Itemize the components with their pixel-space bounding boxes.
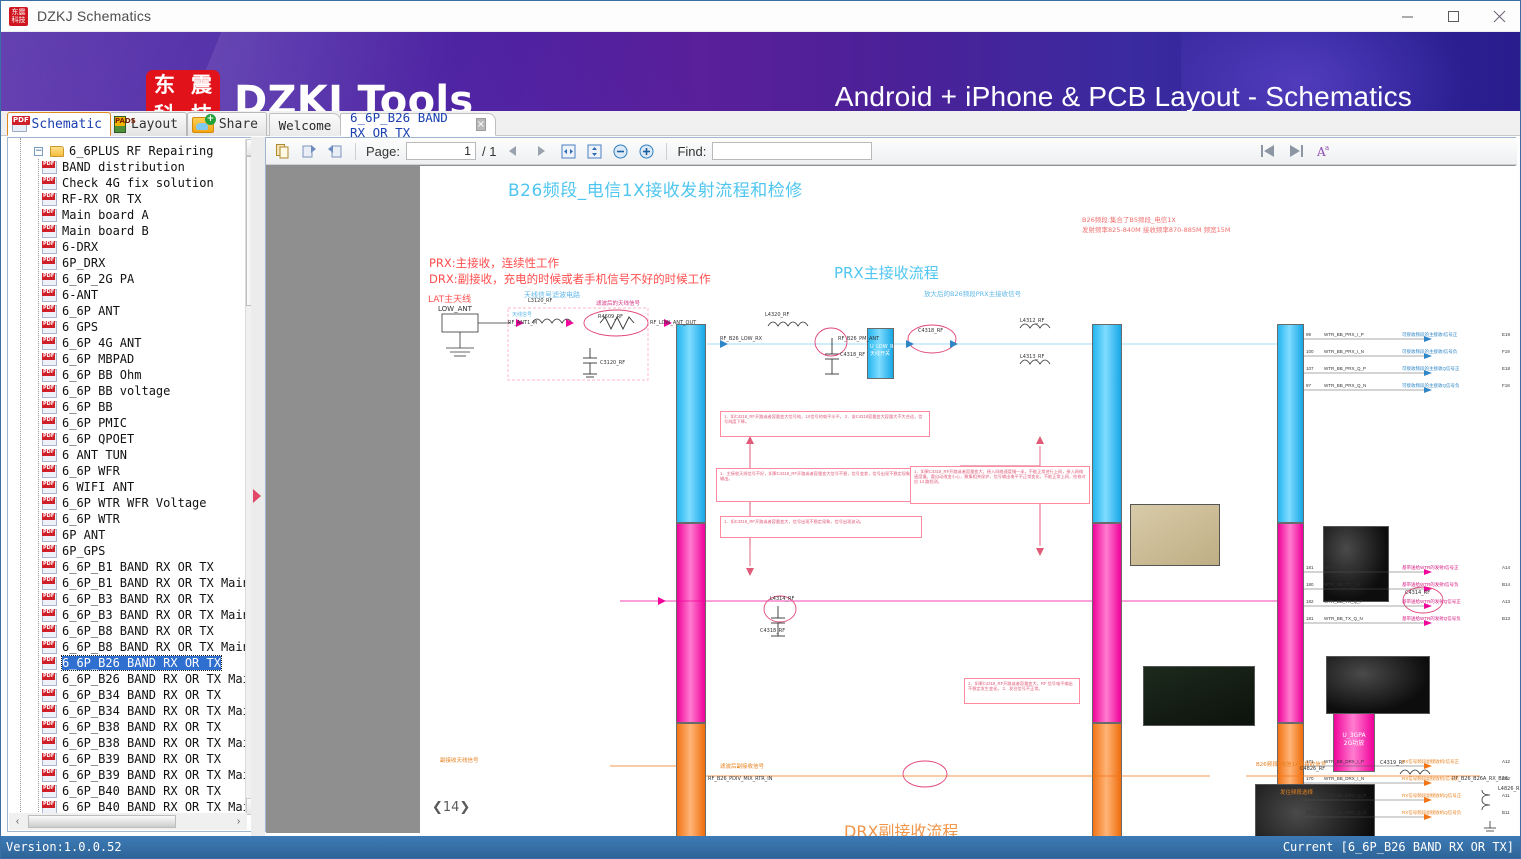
tree-guide-line-child xyxy=(38,159,39,814)
signal-pin: 172 xyxy=(1306,793,1314,798)
signal-net: WTR_BB_PRX_Q_P xyxy=(1324,366,1366,371)
tree-node-21[interactable]: 6_6P WTR WFR Voltage xyxy=(8,495,246,511)
tree-node-26[interactable]: 6_6P_B1 BAND RX OR TX Main xyxy=(8,575,246,591)
signal-pin: 171 xyxy=(1306,759,1314,764)
toolbar-separator xyxy=(355,143,356,160)
tree-node-label: 6_6P_B38 BAND RX OR TX Main xyxy=(62,736,246,750)
pdf-file-icon xyxy=(42,721,57,734)
ref-l4827: L4826_RF xyxy=(1498,786,1521,793)
note-box-5: 1．如果C4318_RF开路或者容量变大，RF 信号电平输出不稳定发生变化。 2… xyxy=(964,678,1080,704)
pdf-file-icon xyxy=(42,449,57,462)
signal-net: WTR_BB_DRX_I_P xyxy=(1324,759,1364,764)
pdf-file-icon xyxy=(42,417,57,430)
tree-node-label: 6_6P_B40 BAND RX OR TX Main xyxy=(62,800,246,814)
signal-pin: 182 xyxy=(1306,599,1314,604)
signal-net: WTR_BB_DRX_I_N xyxy=(1324,776,1364,781)
title-bar: 东震 科技 DZKJ Schematics xyxy=(1,1,1521,32)
pdf-file-icon xyxy=(42,273,57,286)
tab-schematic[interactable]: Schematic xyxy=(7,112,111,136)
pdf-file-icon xyxy=(42,545,57,558)
banner-subtitle: Android + iPhone & PCB Layout - Schemati… xyxy=(835,81,1412,111)
ref-c3120: C3120_RF xyxy=(600,360,625,367)
pdf-file-icon xyxy=(42,689,57,702)
logo-char-4: 技 xyxy=(191,105,212,111)
signal-net: WTR_BB_PRX_I_N xyxy=(1324,349,1364,354)
pdf-file-icon xyxy=(42,385,57,398)
tree-node-18[interactable]: 6 ANT TUN xyxy=(8,447,246,463)
pdf-file-icon xyxy=(42,737,57,750)
tree-node-label: 6_6P_B1 BAND RX OR TX xyxy=(62,560,214,574)
tree-node-label: 6_6P_B39 BAND RX OR TX Main xyxy=(62,768,246,782)
signal-desc: 基带送给WTR的发射I信号负 xyxy=(1402,582,1459,588)
tree-node-label: Main board B xyxy=(62,224,149,238)
page-number-input[interactable]: 1 xyxy=(406,142,476,160)
band-note-line2: 发射频率825-840M 接收频率870-885M 频宽15M xyxy=(1082,226,1231,234)
application-window: 东震 科技 DZKJ Schematics 东 震 科 技 DZKJ Tools… xyxy=(0,0,1521,859)
tree-node-28[interactable]: 6_6P_B3 BAND RX OR TX Main xyxy=(8,607,246,623)
tree-node-label: 6_6P WFR xyxy=(62,464,120,478)
tree-node-36[interactable]: 6_6P_B38 BAND RX OR TX Main xyxy=(8,735,246,751)
signal-desc: RX信号频段副接收机Q信号正 xyxy=(1402,793,1461,799)
ref-c4318-a: C4318_RF xyxy=(840,352,865,359)
signal-desc: 基带送给WTR的发射I信号正 xyxy=(1402,565,1459,571)
pdf-file-icon xyxy=(42,609,57,622)
tree-node-13[interactable]: 6_6P BB Ohm xyxy=(8,367,246,383)
net-b26a-rx: RF_B26_B26A_RX_B26 xyxy=(1452,776,1508,783)
logo-char-1: 东 xyxy=(154,75,175,96)
signal-net: WTR_BB_TX_Q_P xyxy=(1324,599,1363,604)
fit-width-icon[interactable] xyxy=(558,141,578,161)
signal-net: WTR_BB_DRX_Q_P xyxy=(1324,793,1366,798)
pdf-file-icon xyxy=(42,657,57,670)
signal-pin: 99 xyxy=(1306,332,1311,337)
tree-node-label: RF-RX OR TX xyxy=(62,192,141,206)
pdf-file-icon xyxy=(42,161,57,174)
tree-node-label: 6-DRX xyxy=(62,240,98,254)
tree-node-38[interactable]: 6_6P_B39 BAND RX OR TX Main xyxy=(8,767,246,783)
signal-pin2: F19 xyxy=(1502,349,1510,354)
signal-pin: 97 xyxy=(1306,383,1311,388)
ref-c4826: C4826_RF xyxy=(1300,766,1325,773)
pdf-file-icon xyxy=(42,593,57,606)
tree-node-root[interactable]: −6_6PLUS RF Repairing xyxy=(8,143,246,159)
antenna-ref: LOW_ANT xyxy=(438,306,472,313)
maximize-button[interactable] xyxy=(1430,1,1476,32)
tree-node-label: 6P_DRX xyxy=(62,256,105,270)
page-label: Page: xyxy=(366,144,400,159)
pdf-icon xyxy=(12,116,27,132)
previous-page-icon[interactable] xyxy=(299,141,319,161)
folder-share-icon xyxy=(192,117,214,133)
tree-guide-line xyxy=(20,138,21,814)
tree-node-label: 6-ANT xyxy=(62,288,98,302)
tree-node-label: 6_6P_B26 BAND RX OR TX xyxy=(62,656,221,670)
tree-node-label: BAND distribution xyxy=(62,160,185,174)
signal-net: WTR_BB_PRX_Q_N xyxy=(1324,383,1366,388)
tree-node-35[interactable]: 6_6P_B38 BAND RX OR TX xyxy=(8,719,246,735)
pdf-file-icon xyxy=(42,529,57,542)
tree-node-4[interactable]: Main board B xyxy=(8,223,246,239)
tree-node-40[interactable]: 6_6P_B40 BAND RX OR TX Main xyxy=(8,799,246,814)
tree-node-label: 6_6P MBPAD xyxy=(62,352,134,366)
doc-tab-b26-label: 6_6P_B26 BAND RX OR TX xyxy=(350,110,468,140)
note-box-4: 1．如果C4318_RF开路或者容量变大，接入网络速度慢一半，不能正常进行上网，… xyxy=(910,466,1090,504)
net-drx: RF_B26_PDIV_MIX_RTR_IN xyxy=(708,776,772,783)
pdf-file-icon xyxy=(42,369,57,382)
tab-schematic-label: Schematic xyxy=(32,117,102,132)
schematic-tree[interactable]: −6_6PLUS RF RepairingBAND distributionCh… xyxy=(8,138,246,814)
current-document-label: Current [6_6P_B26 BAND RX OR TX] xyxy=(1283,840,1514,854)
pdf-file-icon xyxy=(42,257,57,270)
tree-node-7[interactable]: 6_6P_2G PA xyxy=(8,271,246,287)
tree-node-25[interactable]: 6_6P_B1 BAND RX OR TX xyxy=(8,559,246,575)
status-bar: Version:1.0.0.52 Current [6_6P_B26 BAND … xyxy=(1,836,1521,858)
doc-tab-b26[interactable]: 6_6P_B26 BAND RX OR TX × xyxy=(340,113,496,136)
tree-node-17[interactable]: 6_6P QPOET xyxy=(8,431,246,447)
signal-pin: 180 xyxy=(1306,582,1314,587)
tree-node-label: 6_6P_B8 BAND RX OR TX xyxy=(62,624,214,638)
tree-node-label: 6_6P_B38 BAND RX OR TX xyxy=(62,720,221,734)
pdf-file-icon xyxy=(42,433,57,446)
pdf-file-icon xyxy=(42,641,57,654)
pdf-file-icon xyxy=(42,561,57,574)
pdf-file-icon xyxy=(42,577,57,590)
drx-ant-label: 副接收天线信号 xyxy=(440,758,479,765)
antenna-label: LAT主天线 xyxy=(428,292,471,305)
signal-pin2: E18 xyxy=(1502,366,1510,371)
tree-node-10[interactable]: 6 GPS xyxy=(8,319,246,335)
window-title: DZKJ Schematics xyxy=(37,8,151,24)
signal-pin2: B12 xyxy=(1502,776,1510,781)
note-box-3: 1．如C4318_RF开路或者容量变大，信号出现不稳定现象，信号出现波动。 xyxy=(720,516,922,538)
tree-node-label: 6_6PLUS RF Repairing xyxy=(69,144,214,158)
pdf-file-icon xyxy=(42,289,57,302)
tree-node-label: 6_6P_B8 BAND RX OR TX Main xyxy=(62,640,246,654)
signal-net: WTR_BB_DRX_Q_N xyxy=(1324,810,1367,815)
tree-scroll-left-button[interactable]: ‹ xyxy=(9,814,26,829)
signal-net: WTR_BB_TX_I_P xyxy=(1324,565,1360,570)
tree-node-label: 6_6P_B34 BAND RX OR TX Main xyxy=(62,704,246,718)
tab-strip: Schematic Layout Share Welcome 6_6P_B26 … xyxy=(1,111,1521,136)
tree-node-27[interactable]: 6_6P_B3 BAND RX OR TX xyxy=(8,591,246,607)
signal-pin2: A14 xyxy=(1502,565,1510,570)
band-note-line1: B26频段:集合了B5频段_电信1X xyxy=(1082,216,1176,224)
viewer-gutter xyxy=(266,166,420,833)
tab-layout-label: Layout xyxy=(131,117,178,132)
tree-node-31[interactable]: 6_6P_B26 BAND RX OR TX xyxy=(8,655,246,671)
ref-l3120: L3120_RF xyxy=(528,298,552,305)
window-controls xyxy=(1384,1,1521,32)
tree-node-label: 6_6P QPOET xyxy=(62,432,134,446)
tree-node-label: 6_6P_2G PA xyxy=(62,272,134,286)
folder-icon xyxy=(50,146,64,157)
tree-node-20[interactable]: 6 WIFI ANT xyxy=(8,479,246,495)
pdf-file-icon xyxy=(42,513,57,526)
find-input[interactable] xyxy=(712,142,872,160)
tree-node-label: 6_6P ANT xyxy=(62,304,120,318)
pdf-file-icon xyxy=(42,769,57,782)
doc-tab-welcome[interactable]: Welcome xyxy=(269,113,341,136)
signal-pin2: F18 xyxy=(1502,383,1510,388)
signal-desc: 可接收频段的主接收I信号负 xyxy=(1402,349,1457,355)
doc-tab-close-icon[interactable]: × xyxy=(476,118,486,131)
pdf-viewer: Page: 1 / 1 Find: xyxy=(265,137,1516,832)
logo-char-2: 震 xyxy=(191,75,212,96)
find-previous-icon[interactable] xyxy=(1258,141,1278,161)
tree-node-39[interactable]: 6_6P_B40 BAND RX OR TX xyxy=(8,783,246,799)
pdf-file-icon xyxy=(42,401,57,414)
pdf-file-icon xyxy=(42,241,57,254)
toolbar-separator-2 xyxy=(666,143,667,160)
next-page-icon[interactable] xyxy=(325,141,345,161)
pdf-file-icon xyxy=(42,321,57,334)
tree-node-33[interactable]: 6_6P_B34 BAND RX OR TX xyxy=(8,687,246,703)
tree-node-14[interactable]: 6_6P BB voltage xyxy=(8,383,246,399)
signal-desc: RX信号频段副接收机I信号正 xyxy=(1402,759,1459,765)
close-button[interactable] xyxy=(1476,1,1521,32)
filtered-signal-label: 滤波后的天线信号 xyxy=(596,301,640,308)
tree-node-label: 6_6P_B40 BAND RX OR TX xyxy=(62,784,221,798)
antenna-signal-label: 天线信号 xyxy=(512,312,532,319)
tree-node-1[interactable]: Check 4G fix solution xyxy=(8,175,246,191)
signal-pin: 181 xyxy=(1306,616,1314,621)
tree-node-label: 6_6P_B1 BAND RX OR TX Main xyxy=(62,576,246,590)
tree-node-label: 6_6P_B34 BAND RX OR TX xyxy=(62,688,221,702)
zoom-out-button[interactable] xyxy=(610,141,630,161)
pdf-file-icon xyxy=(42,465,57,478)
signal-desc: 可接收频段的主接收I信号正 xyxy=(1402,332,1457,338)
tree-node-8[interactable]: 6-ANT xyxy=(8,287,246,303)
brand-banner: 东 震 科 技 DZKJ Tools Android + iPhone & PC… xyxy=(1,32,1521,111)
tree-node-24[interactable]: 6P_GPS xyxy=(8,543,246,559)
tree-node-34[interactable]: 6_6P_B34 BAND RX OR TX Main xyxy=(8,703,246,719)
tree-node-label: 6P_GPS xyxy=(62,544,105,558)
ref-l4314: L4314_RF xyxy=(770,596,794,603)
signal-pin2: A12 xyxy=(1502,759,1510,764)
signal-pin2: E19 xyxy=(1502,332,1510,337)
signal-desc: RX信号频段副接收机Q信号负 xyxy=(1402,810,1461,816)
signal-desc: 可接收频段的主接收Q信号负 xyxy=(1402,383,1460,389)
tree-node-37[interactable]: 6_6P_B39 BAND RX OR TX xyxy=(8,751,246,767)
pads-icon xyxy=(114,116,126,133)
signal-desc: 可接收频段的主接收Q信号正 xyxy=(1402,366,1460,372)
signal-pin: 173 xyxy=(1306,810,1314,815)
page-total-label: / 1 xyxy=(482,144,496,159)
ref-c4318-b: C4318_RF xyxy=(918,328,943,335)
signal-desc: 基带送给WTR的发射Q信号正 xyxy=(1402,599,1461,605)
tree-scroll-right-button[interactable]: › xyxy=(230,814,247,829)
tree-node-label: 6_6P PMIC xyxy=(62,416,127,430)
drx-note: DRX:副接收，充电的时候或者手机信号不好的时候工作 xyxy=(429,272,711,286)
signal-pin2: B11 xyxy=(1502,810,1510,815)
net-rf-b26-pm-ant: RF_B26_PM_ANT xyxy=(838,336,879,343)
app-logo-icon: 东震 科技 xyxy=(9,7,28,26)
ref-l4320: L4320_RF xyxy=(765,312,789,319)
find-label: Find: xyxy=(677,144,706,159)
tree-hscroll-thumb[interactable] xyxy=(28,815,176,828)
tree-node-label: 6 GPS xyxy=(62,320,98,334)
tree-node-19[interactable]: 6_6P WFR xyxy=(8,463,246,479)
tree-node-15[interactable]: 6_6P BB xyxy=(8,399,246,415)
tree-node-6[interactable]: 6P_DRX xyxy=(8,255,246,271)
note-box-2: 1．主接收天线信号不好，如果C4318_RF开路或者容量变大信号不稳，信号变差，… xyxy=(716,468,934,502)
net-rf-b26-low-rx: RF_B26_LOW_RX xyxy=(720,336,762,343)
signal-pin: 181 xyxy=(1306,565,1314,570)
tree-node-22[interactable]: 6_6P WTR xyxy=(8,511,246,527)
net-rf-low-ant-out: RF_LOW_ANT_OUT xyxy=(650,320,696,327)
signal-pin: 107 xyxy=(1306,366,1314,371)
tree-node-5[interactable]: 6-DRX xyxy=(8,239,246,255)
tree-node-label: 6_6P WTR xyxy=(62,512,120,526)
zoom-in-button[interactable] xyxy=(636,141,656,161)
prx-flow-title: PRX主接收流程 xyxy=(834,262,939,283)
pdf-file-icon xyxy=(42,625,57,638)
signal-pin2: A11 xyxy=(1502,793,1510,798)
pdf-file-icon xyxy=(42,209,57,222)
tree-node-label: 6_6P_B3 BAND RX OR TX Main xyxy=(62,608,246,622)
pdf-file-icon xyxy=(42,753,57,766)
drx-filtered-label: 滤波后副接收信号 xyxy=(720,764,764,771)
version-label: Version:1.0.0.52 xyxy=(6,840,122,854)
pdf-file-icon xyxy=(42,177,57,190)
pdf-file-icon xyxy=(42,673,57,686)
next-page-button[interactable] xyxy=(530,141,552,161)
pdf-file-icon xyxy=(42,481,57,494)
tree-node-label: 6_6P BB Ohm xyxy=(62,368,141,382)
fit-page-icon[interactable] xyxy=(584,141,604,161)
tree-node-9[interactable]: 6_6P ANT xyxy=(8,303,246,319)
pdf-file-icon xyxy=(42,801,57,814)
tab-layout[interactable]: Layout xyxy=(109,112,187,136)
tree-node-label: 6 WIFI ANT xyxy=(62,480,134,494)
pdf-file-icon xyxy=(42,193,57,206)
tree-node-2[interactable]: RF-RX OR TX xyxy=(8,191,246,207)
tree-node-label: 6_6P_B3 BAND RX OR TX xyxy=(62,592,214,606)
tree-node-label: Main board A xyxy=(62,208,149,222)
pdf-file-icon xyxy=(42,337,57,350)
pdf-page: ❮14❯ U_LOW_RF 天线开关 xyxy=(420,166,1517,833)
ref-c4314: C4314_RF xyxy=(1405,590,1430,597)
tree-node-label: 6_6P BB xyxy=(62,400,113,414)
net-rf-ant1: RF_ANT1_M xyxy=(508,320,537,327)
tree-node-32[interactable]: 6_6P_B26 BAND RX OR TX Main xyxy=(8,671,246,687)
pdf-file-icon xyxy=(42,705,57,718)
signal-pin2: A13 xyxy=(1502,599,1510,604)
pdf-file-icon xyxy=(42,225,57,238)
tree-node-label: 6_6P WTR WFR Voltage xyxy=(62,496,207,510)
copy-icon[interactable] xyxy=(273,141,293,161)
ref-l4313: L4313_RF xyxy=(1020,354,1044,361)
signal-pin2: B13 xyxy=(1502,616,1510,621)
tree-node-label: Check 4G fix solution xyxy=(62,176,214,190)
tree-node-23[interactable]: 6P ANT xyxy=(8,527,246,543)
tree-expand-toggle[interactable]: − xyxy=(34,147,43,156)
minimize-button[interactable] xyxy=(1384,1,1430,32)
signal-net: WTR_BB_PRX_I_P xyxy=(1324,332,1364,337)
tree-node-label: 6_6P BB voltage xyxy=(62,384,170,398)
tree-node-11[interactable]: 6_6P 4G ANT xyxy=(8,335,246,351)
logo-char-3: 科 xyxy=(154,105,175,111)
svg-text:a: a xyxy=(1325,144,1329,152)
signal-desc: RX信号频段副接收机I信号负 xyxy=(1402,776,1459,782)
schematic-title: B26频段_电信1X接收发射流程和检修 xyxy=(508,176,803,201)
prx-note: PRX:主接收，连续性工作 xyxy=(429,256,559,270)
tab-share-label: Share xyxy=(219,117,258,132)
ref-l4312: L4312_RF xyxy=(1020,318,1044,325)
ref-r4609: R4609_RF xyxy=(598,314,623,321)
schematic-drawing: U_LOW_RF 天线开关 U_3GPA 2G功放 U_WTR_RF 频段选择器 xyxy=(420,166,1517,833)
pdf-file-icon xyxy=(42,305,57,318)
tree-node-label: 6P ANT xyxy=(62,528,105,542)
tree-node-30[interactable]: 6_6P_B8 BAND RX OR TX Main xyxy=(8,639,246,655)
signal-net: WTR_BB_TX_Q_N xyxy=(1324,616,1363,621)
pdf-file-icon xyxy=(42,497,57,510)
tree-node-label: 6_6P_B26 BAND RX OR TX Main xyxy=(62,672,246,686)
ref-c4318-c: C4318_RF xyxy=(760,628,785,635)
tab-share[interactable]: Share xyxy=(187,112,267,136)
tree-node-label: 6_6P_B39 BAND RX OR TX xyxy=(62,752,221,766)
tree-node-label: 6 ANT TUN xyxy=(62,448,127,462)
tree-node-12[interactable]: 6_6P MBPAD xyxy=(8,351,246,367)
signal-pin: 170 xyxy=(1306,776,1314,781)
signal-desc: 基带送给WTR的发射Q信号负 xyxy=(1402,616,1461,622)
tree-node-29[interactable]: 6_6P_B8 BAND RX OR TX xyxy=(8,623,246,639)
doc-tab-welcome-label: Welcome xyxy=(279,118,332,133)
signal-pin2: B14 xyxy=(1502,582,1510,587)
amplified-signal-label: 放大后的B26频段PRX主接收信号 xyxy=(924,288,1021,298)
splitter-grip-icon[interactable] xyxy=(253,489,262,503)
prev-page-button[interactable] xyxy=(502,141,524,161)
dzkj-logo-icon: 东 震 科 技 xyxy=(146,70,220,111)
tree-horizontal-scrollbar[interactable]: ‹ › xyxy=(9,813,247,830)
schematic-tree-panel: −6_6PLUS RF RepairingBAND distributionCh… xyxy=(7,137,263,832)
pdf-file-icon xyxy=(42,785,57,798)
tree-node-label: 6_6P 4G ANT xyxy=(62,336,141,350)
note-box-1: 1．如C4318_RF开路或者容量变大信号纯，1X信号的电平水平。 2．该C43… xyxy=(720,411,930,437)
signal-pin: 100 xyxy=(1306,349,1314,354)
brand-name: DZKJ Tools xyxy=(234,78,473,111)
find-options-icon[interactable]: Aa xyxy=(1314,141,1334,161)
signal-net: WTR_BB_TX_I_N xyxy=(1324,582,1361,587)
find-next-icon[interactable] xyxy=(1286,141,1306,161)
tree-node-3[interactable]: Main board A xyxy=(8,207,246,223)
pdf-file-icon xyxy=(42,353,57,366)
tree-node-16[interactable]: 6_6P PMIC xyxy=(8,415,246,431)
viewer-toolbar: Page: 1 / 1 Find: xyxy=(266,138,1517,165)
tree-node-0[interactable]: BAND distribution xyxy=(8,159,246,175)
